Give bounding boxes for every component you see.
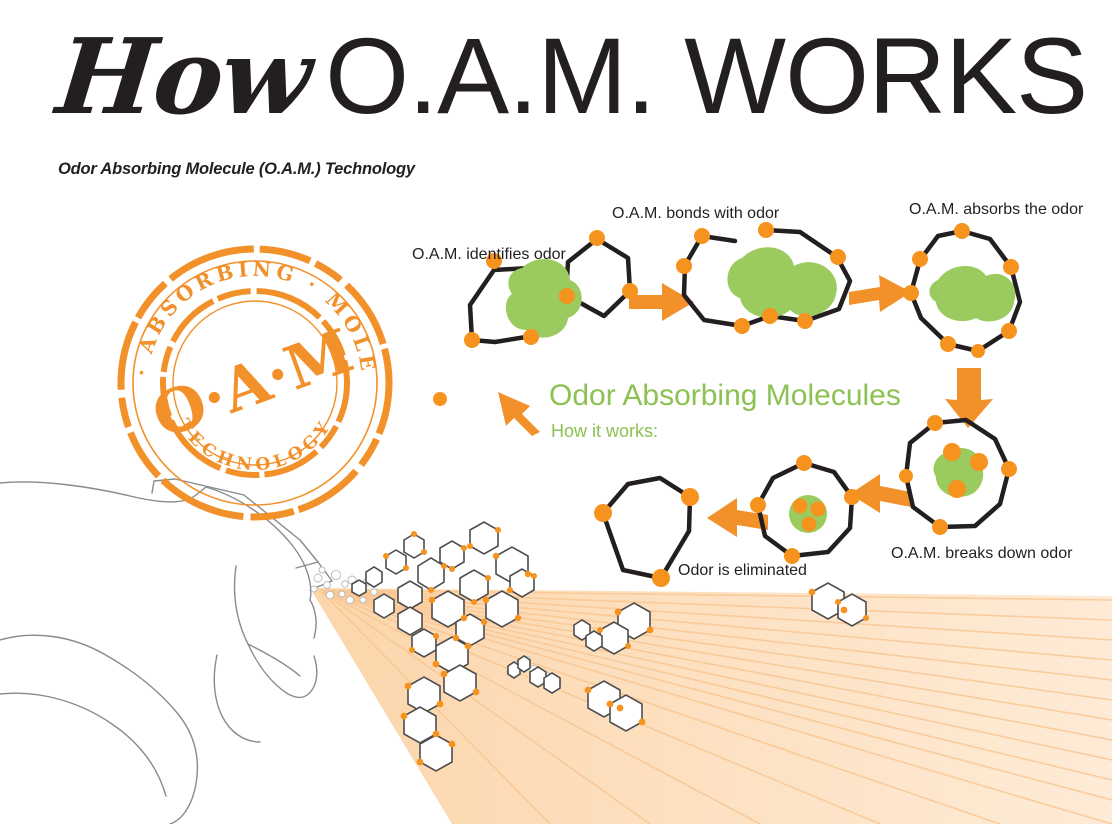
center-heading-subtitle: How it works: (551, 421, 901, 442)
oam-stamp-icon: ODOR · ABSORBING · MOLECULES TECHNOLOGY … (116, 244, 394, 522)
infographic-canvas: How O.A.M. WORKS Odor Absorbing Molecule… (0, 0, 1112, 824)
center-heading-title: Odor Absorbing Molecules (549, 380, 901, 412)
step-label-absorbs: O.A.M. absorbs the odor (909, 201, 1083, 219)
step-label-breaks: O.A.M. breaks down odor (891, 545, 1072, 563)
step-label-eliminated: Odor is eliminated (678, 562, 807, 580)
center-heading: Odor Absorbing Molecules How it works: (549, 380, 901, 442)
step-label-identify: O.A.M. identifies odor (412, 246, 566, 264)
step-label-bonds: O.A.M. bonds with odor (612, 205, 779, 223)
